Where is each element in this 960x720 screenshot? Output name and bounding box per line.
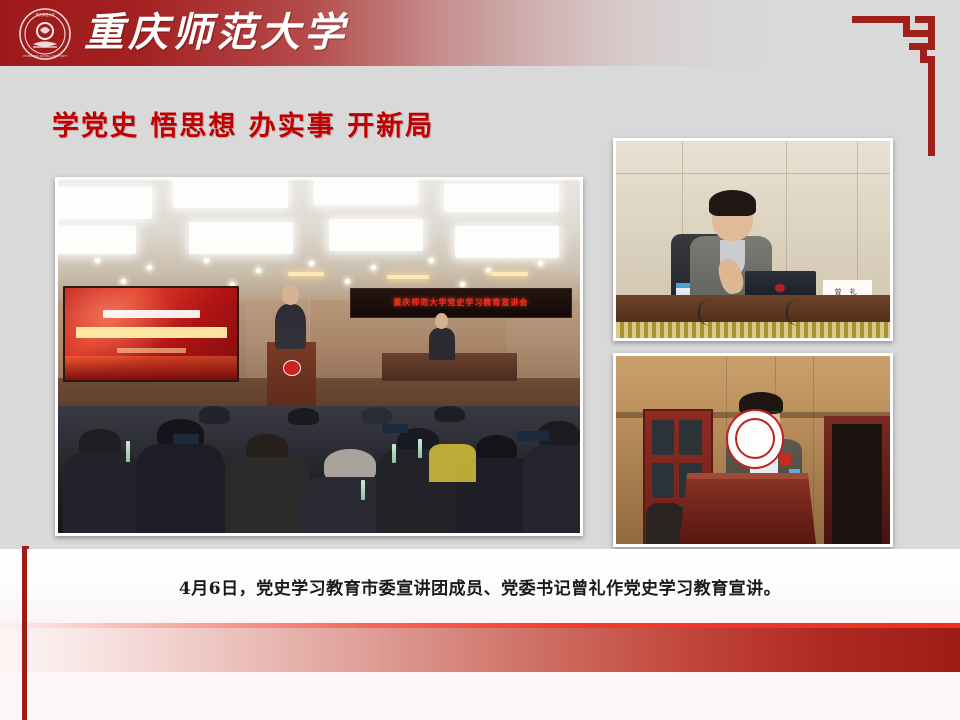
desk-edge-trim	[616, 322, 890, 338]
svg-text:CHONGQING NORMAL UNIVERSITY: CHONGQING NORMAL UNIVERSITY	[23, 54, 68, 58]
institution-name: 重庆师范大学	[84, 7, 348, 59]
svg-text:重庆师范大学: 重庆师范大学	[35, 12, 54, 17]
seated-person	[429, 328, 455, 360]
doorway	[824, 416, 890, 544]
university-seal-icon: 重庆师范大学 CHONGQING NORMAL UNIVERSITY	[16, 6, 74, 62]
speaker-hair	[709, 190, 756, 216]
lectern	[679, 473, 816, 544]
led-banner: 重庆师范大学党史学习教育宣讲会	[350, 288, 571, 318]
standing-speaker	[275, 304, 306, 350]
projection-screen	[63, 286, 239, 382]
podium-speaker-photo	[613, 353, 893, 547]
university-emblem-icon	[726, 409, 785, 469]
page-title: 学党史 悟思想 办实事 开新局	[52, 104, 434, 143]
header-bar: 重庆师范大学 CHONGQING NORMAL UNIVERSITY 重庆师范大…	[0, 0, 960, 66]
front-row-seat	[646, 503, 684, 544]
podium	[267, 342, 317, 409]
desk-front	[616, 295, 890, 323]
seated-speaker-photo: 曾 礼	[613, 138, 893, 341]
left-vertical-rail	[22, 549, 27, 720]
footer-gradient-band	[0, 628, 960, 672]
lapel-tag	[780, 454, 791, 465]
slide-caption: 4月6日，党史学习教育市委宣讲团成员、党委书记曾礼作党史学习教育宣讲。	[0, 574, 960, 599]
audience	[58, 406, 580, 533]
led-banner-text: 重庆师范大学党史学习教育宣讲会	[393, 297, 528, 308]
slide-canvas: 重庆师范大学 CHONGQING NORMAL UNIVERSITY 重庆师范大…	[0, 0, 960, 720]
footer-base	[0, 672, 960, 720]
conference-hall-photo: 重庆师范大学党史学习教育宣讲会	[55, 177, 583, 536]
